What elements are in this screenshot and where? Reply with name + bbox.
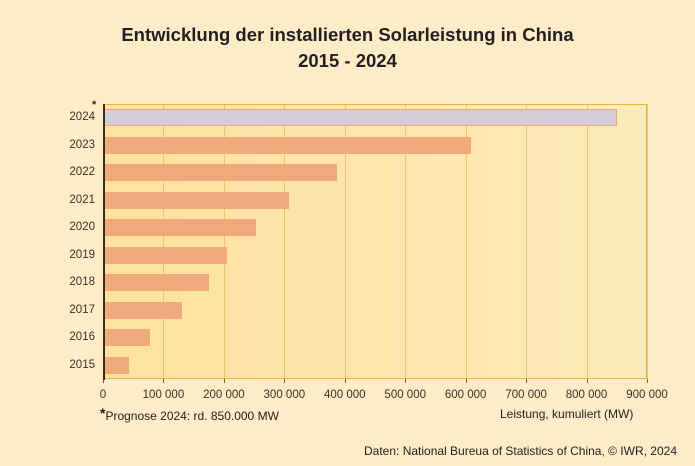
bar-forecast <box>103 109 617 126</box>
x-axis-tick <box>647 379 648 383</box>
y-axis-category-label: 2023 <box>47 137 95 154</box>
y-axis-category-label: 2020 <box>47 219 95 236</box>
bar <box>103 164 337 181</box>
x-axis-tick-label: 100 000 <box>143 388 185 402</box>
bar <box>103 302 182 319</box>
x-axis-title: Leistung, kumuliert (MW) <box>500 406 633 422</box>
x-axis-tick-label: 300 000 <box>264 388 306 402</box>
x-axis-tick <box>587 379 588 383</box>
y-axis-category-label: 2022 <box>47 164 95 181</box>
y-axis-category-label: 2019 <box>47 247 95 264</box>
bar-row: 2017 <box>103 302 647 319</box>
x-axis-tick-label: 600 000 <box>445 388 487 402</box>
plot-area-wrapper: 2024202320222021202020192018201720162015… <box>103 104 647 379</box>
x-axis-tick <box>163 379 164 383</box>
x-axis-tick-label: 400 000 <box>324 388 366 402</box>
bar-row: 2019 <box>103 247 647 264</box>
chart-title-line1: Entwicklung der installierten Solarleist… <box>121 24 573 45</box>
x-axis-tick-label: 900 000 <box>626 388 668 402</box>
bar-row: 2015 <box>103 357 647 374</box>
y-axis-category-label: 2024 <box>47 109 95 126</box>
y-axis-category-label: 2018 <box>47 274 95 291</box>
chart-title: Entwicklung der installierten Solarleist… <box>0 22 695 74</box>
chart-title-line2: 2015 - 2024 <box>0 48 695 74</box>
y-axis-line <box>103 104 105 380</box>
gridline <box>647 104 648 379</box>
x-axis-tick <box>284 379 285 383</box>
source-credit: Daten: National Bureua of Statistics of … <box>364 443 677 459</box>
x-axis-tick-label: 500 000 <box>384 388 426 402</box>
bar <box>103 329 150 346</box>
y-axis-category-label: 2017 <box>47 302 95 319</box>
bar <box>103 357 129 374</box>
x-axis-tick-label: 800 000 <box>566 388 608 402</box>
x-axis-tick <box>466 379 467 383</box>
bar-row: 2021 <box>103 192 647 209</box>
bars-layer: 2024202320222021202020192018201720162015 <box>103 104 647 379</box>
x-axis-tick <box>526 379 527 383</box>
y-axis-category-label: 2015 <box>47 357 95 374</box>
footnote-text: Prognose 2024: rd. 850.000 MW <box>105 409 278 423</box>
bar-row: 2022 <box>103 164 647 181</box>
y-axis-category-label: 2016 <box>47 329 95 346</box>
y-axis-category-label: 2021 <box>47 192 95 209</box>
bar-row: 2016 <box>103 329 647 346</box>
bar-row: 2023 <box>103 137 647 154</box>
x-axis-tick <box>345 379 346 383</box>
x-axis-tick <box>405 379 406 383</box>
x-axis-tick <box>224 379 225 383</box>
bar <box>103 274 209 291</box>
bar <box>103 137 471 154</box>
bar-row: 2018 <box>103 274 647 291</box>
forecast-footnote: *Prognose 2024: rd. 850.000 MW <box>100 405 279 424</box>
x-axis-tick-label: 700 000 <box>505 388 547 402</box>
bar-row: 2020 <box>103 219 647 236</box>
solar-capacity-bar-chart: Entwicklung der installierten Solarleist… <box>0 0 695 466</box>
bar <box>103 247 227 264</box>
x-axis-tick-label: 200 000 <box>203 388 245 402</box>
x-axis-tick-label: 0 <box>100 388 106 402</box>
bar-row: 2024 <box>103 109 647 126</box>
bar <box>103 219 256 236</box>
bar <box>103 192 289 209</box>
